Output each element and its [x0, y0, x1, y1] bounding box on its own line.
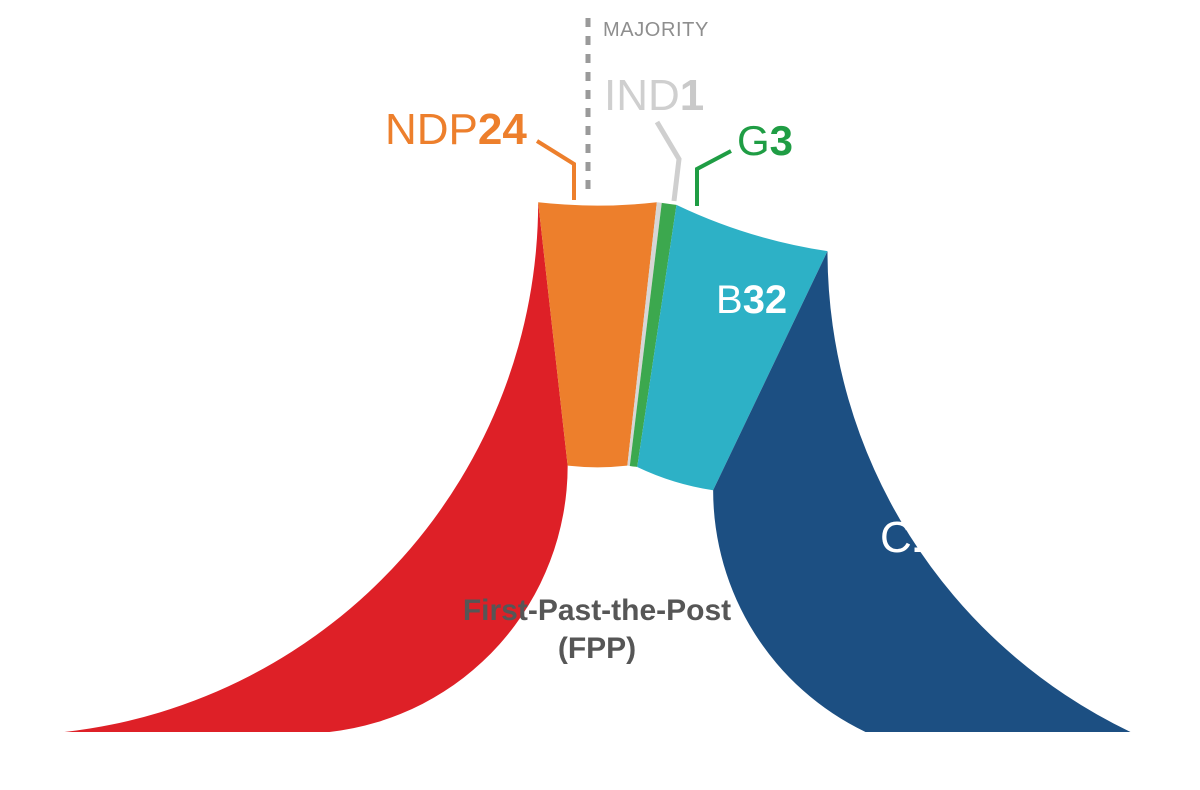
liberal-seat-count: 157	[272, 418, 349, 470]
liberal-party-code: L	[246, 418, 272, 470]
green-party-code: G	[737, 117, 770, 164]
ind-party-code: IND	[604, 71, 680, 120]
segment-label-conservative: C121	[880, 513, 985, 562]
seat-distribution-chart: L157 B32 C121 MAJORITY IND1 NDP24 G3 Fir…	[0, 0, 1200, 790]
center-title-line2: (FPP)	[397, 630, 797, 668]
bloc-party-code: B	[716, 278, 743, 322]
green-leader-line	[697, 151, 731, 206]
ind-leader-line	[657, 122, 679, 201]
segment-label-bloc: B32	[716, 278, 787, 322]
callout-label-green: G3	[737, 120, 793, 162]
conservative-party-code: C	[880, 513, 912, 562]
ind-seat-count: 1	[680, 71, 704, 120]
center-title-line1: First-Past-the-Post	[463, 594, 731, 627]
chart-center-title: First-Past-the-Post (FPP)	[397, 592, 797, 667]
semi-donut-chart-svg: L157 B32 C121	[0, 0, 1200, 790]
bloc-seat-count: 32	[743, 278, 788, 322]
ndp-leader-line	[537, 141, 574, 200]
conservative-seat-count: 121	[912, 513, 985, 562]
callout-label-ndp: NDP24	[385, 108, 527, 152]
callout-label-independent: IND1	[604, 74, 704, 118]
segment-label-liberal: L157	[246, 418, 348, 470]
ndp-seat-count: 24	[478, 105, 527, 154]
majority-label: MAJORITY	[603, 20, 709, 40]
ndp-party-code: NDP	[385, 105, 478, 154]
green-seat-count: 3	[770, 117, 793, 164]
